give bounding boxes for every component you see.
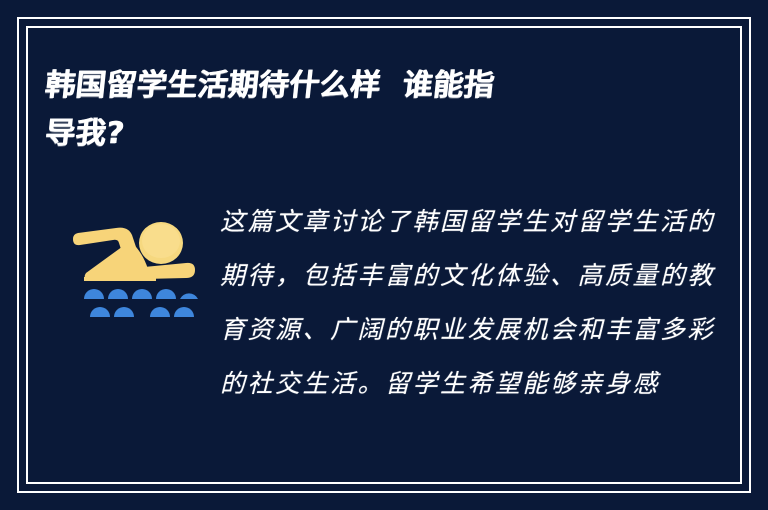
swimmer-icon [68,215,198,325]
title-line-1: 韩国留学生活期待什么样 谁能指 [42,62,687,110]
title-line-2: 导我? [42,110,687,158]
article-summary-text: 这篇文章讨论了韩国留学生对留学生活的期待，包括丰富的文化体验、高质量的教育资源、… [220,195,723,411]
wave-row-1 [84,289,198,299]
page-title: 韩国留学生活期待什么样 谁能指 导我? [45,62,685,158]
poster-canvas: 韩国留学生活期待什么样 谁能指 导我? [0,0,768,510]
swimmer-front-arm-shape [144,263,195,279]
swimmer-waterline [84,277,156,281]
content-area: 这篇文章讨论了韩国留学生对留学生活的期待，包括丰富的文化体验、高质量的教育资源、… [45,195,723,460]
wave-row-2 [90,307,194,317]
illustration-container [45,195,220,325]
